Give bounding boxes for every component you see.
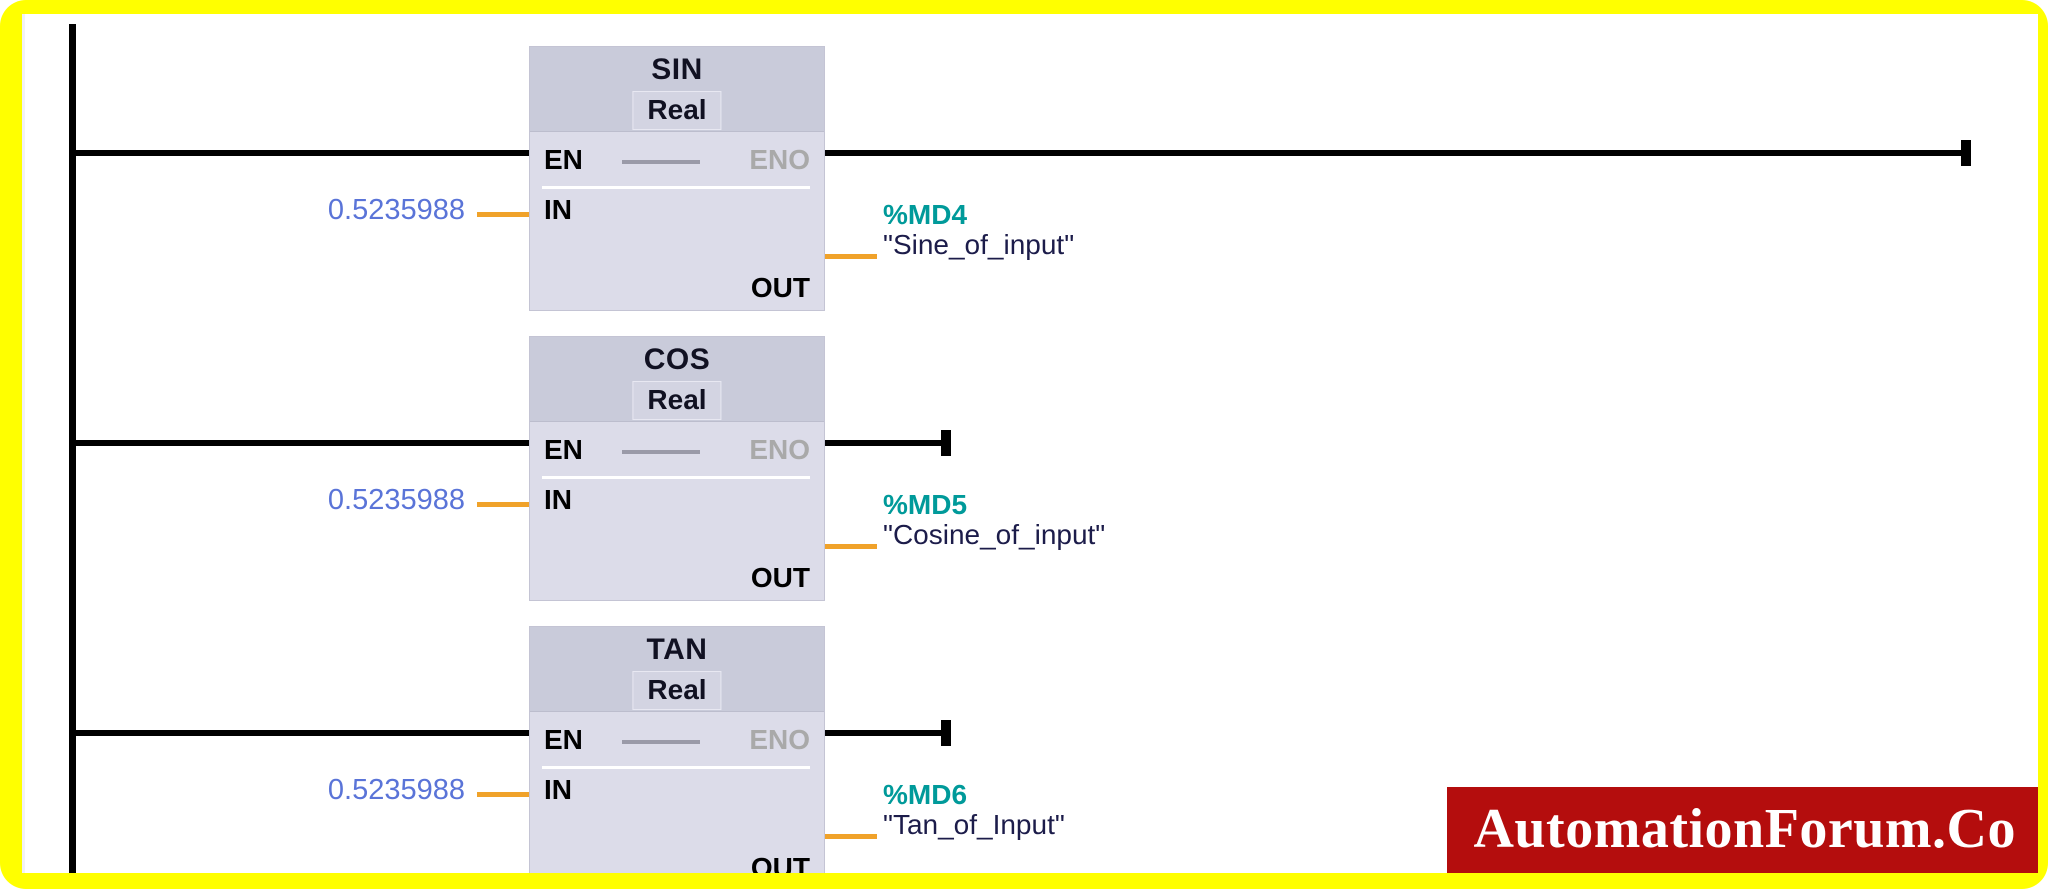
function-block-cos[interactable]: COS Real EN ENO IN OUT	[529, 336, 825, 601]
en-eno-connector-icon-tan	[622, 740, 700, 744]
function-block-sin[interactable]: SIN Real EN ENO IN OUT	[529, 46, 825, 311]
function-block-header-tan: TAN Real	[530, 627, 824, 712]
pin-eno-sin: ENO	[749, 144, 810, 176]
function-block-datatype-cos[interactable]: Real	[632, 381, 721, 420]
rung-end-terminator-3	[941, 720, 951, 746]
output-operand-sin[interactable]: %MD4 "Sine_of_input"	[883, 200, 1074, 262]
ladder-canvas: SIN Real EN ENO IN OUT 0.5235988 %MD4 "S…	[22, 14, 2038, 873]
input-literal-tan[interactable]: 0.5235988	[175, 774, 465, 807]
function-block-header-cos: COS Real	[530, 337, 824, 422]
function-block-name-cos: COS	[530, 343, 824, 377]
function-block-header-sin: SIN Real	[530, 47, 824, 132]
input-wire-sin	[477, 212, 529, 217]
pin-divider-cos	[542, 476, 810, 479]
output-operand-tan[interactable]: %MD6 "Tan_of_Input"	[883, 780, 1065, 842]
pin-divider-sin	[542, 186, 810, 189]
output-address-cos: %MD5	[883, 490, 1105, 519]
output-wire-sin	[825, 254, 877, 259]
rung-end-terminator-2	[941, 430, 951, 456]
pin-en-sin: EN	[544, 144, 583, 176]
en-eno-connector-icon-sin	[622, 160, 700, 164]
pin-in-sin: IN	[544, 194, 572, 226]
input-literal-sin[interactable]: 0.5235988	[175, 194, 465, 227]
pin-en-tan: EN	[544, 724, 583, 756]
input-wire-cos	[477, 502, 529, 507]
pin-in-tan: IN	[544, 774, 572, 806]
pin-eno-cos: ENO	[749, 434, 810, 466]
rung-power-line-1	[69, 150, 1969, 156]
output-wire-cos	[825, 544, 877, 549]
input-literal-cos[interactable]: 0.5235988	[175, 484, 465, 517]
function-block-name-sin: SIN	[530, 53, 824, 87]
output-tag-tan: "Tan_of_Input"	[883, 809, 1065, 841]
pin-out-cos: OUT	[751, 562, 810, 594]
output-address-sin: %MD4	[883, 200, 1074, 229]
output-wire-tan	[825, 834, 877, 839]
pin-out-tan: OUT	[751, 852, 810, 873]
function-block-tan[interactable]: TAN Real EN ENO IN OUT	[529, 626, 825, 873]
output-operand-cos[interactable]: %MD5 "Cosine_of_input"	[883, 490, 1105, 552]
function-block-body-cos: EN ENO IN OUT	[530, 422, 824, 600]
pin-en-cos: EN	[544, 434, 583, 466]
editor-yellow-frame: SIN Real EN ENO IN OUT 0.5235988 %MD4 "S…	[0, 0, 2048, 889]
pin-eno-tan: ENO	[749, 724, 810, 756]
input-wire-tan	[477, 792, 529, 797]
pin-out-sin: OUT	[751, 272, 810, 304]
output-tag-sin: "Sine_of_input"	[883, 229, 1074, 261]
function-block-body-tan: EN ENO IN OUT	[530, 712, 824, 873]
output-address-tan: %MD6	[883, 780, 1065, 809]
function-block-datatype-sin[interactable]: Real	[632, 91, 721, 130]
function-block-datatype-tan[interactable]: Real	[632, 671, 721, 710]
en-eno-connector-icon-cos	[622, 450, 700, 454]
function-block-name-tan: TAN	[530, 633, 824, 667]
function-block-body-sin: EN ENO IN OUT	[530, 132, 824, 310]
site-watermark: AutomationForum.Co	[1447, 787, 2038, 873]
pin-divider-tan	[542, 766, 810, 769]
output-tag-cos: "Cosine_of_input"	[883, 519, 1105, 551]
pin-in-cos: IN	[544, 484, 572, 516]
rung-end-terminator-1	[1961, 140, 1971, 166]
